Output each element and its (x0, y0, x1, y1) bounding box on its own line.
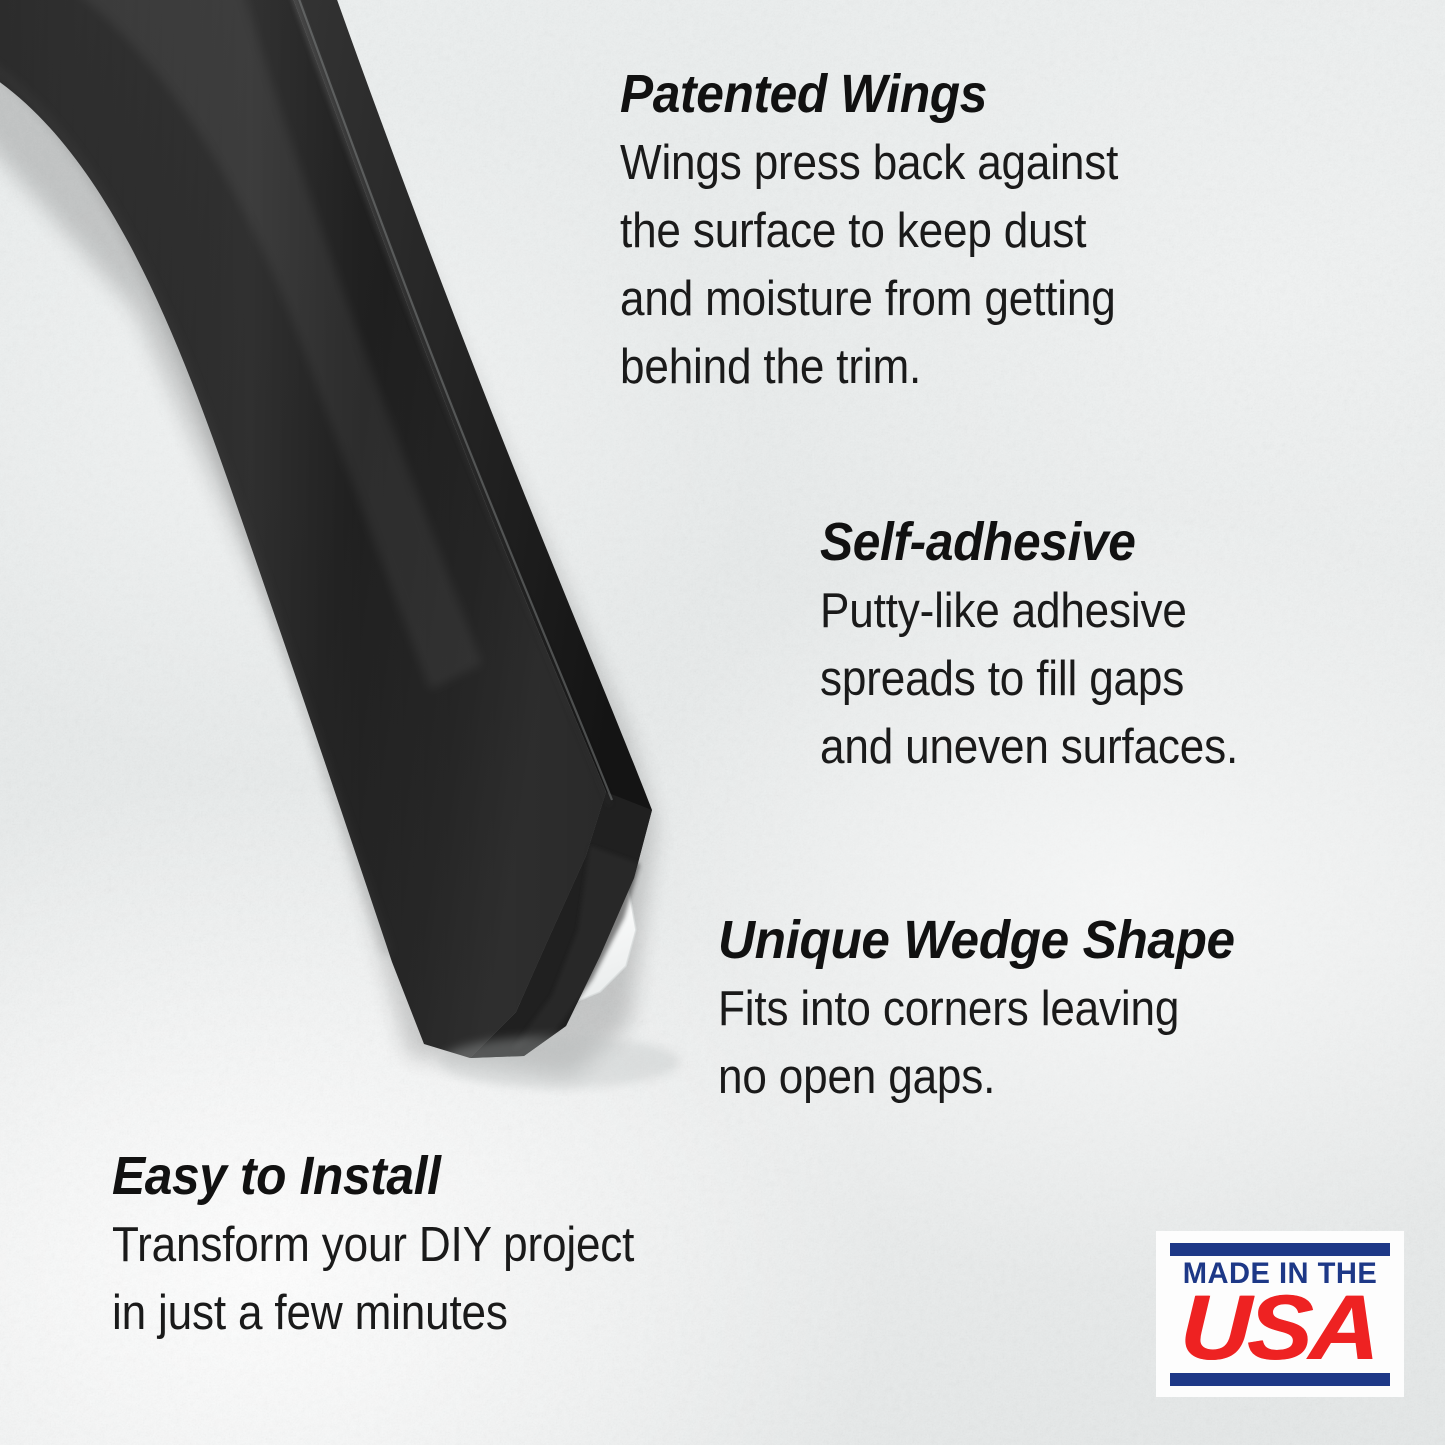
feature-block-easy-to-install: Easy to Install Transform your DIY proje… (112, 1148, 692, 1347)
feature-block-self-adhesive: Self-adhesive Putty-like adhesive spread… (820, 514, 1285, 781)
feature-title-unique-wedge-shape: Unique Wedge Shape (718, 912, 1235, 969)
usa-badge-top-bar (1170, 1243, 1390, 1256)
feature-title-self-adhesive: Self-adhesive (820, 514, 1247, 571)
usa-badge-line-usa: USA (1150, 1282, 1406, 1374)
made-in-usa-badge: MADE IN THE USA (1157, 1232, 1403, 1396)
feature-body-unique-wedge-shape: Fits into corners leaving no open gaps. (718, 975, 1207, 1111)
feature-block-unique-wedge-shape: Unique Wedge Shape Fits into corners lea… (718, 912, 1262, 1111)
feature-block-patented-wings: Patented Wings Wings press back against … (620, 66, 1174, 401)
feature-title-easy-to-install: Easy to Install (112, 1148, 646, 1205)
infographic-canvas: Patented Wings Wings press back against … (0, 0, 1445, 1445)
feature-body-self-adhesive: Putty-like adhesive spreads to fill gaps… (820, 577, 1238, 781)
usa-badge-text-group: MADE IN THE USA (1170, 1256, 1390, 1373)
trim-tip-shadow (440, 1036, 680, 1088)
feature-title-patented-wings: Patented Wings (620, 66, 1129, 123)
feature-body-patented-wings: Wings press back against the surface to … (620, 129, 1118, 401)
feature-body-easy-to-install: Transform your DIY project in just a few… (112, 1211, 634, 1347)
